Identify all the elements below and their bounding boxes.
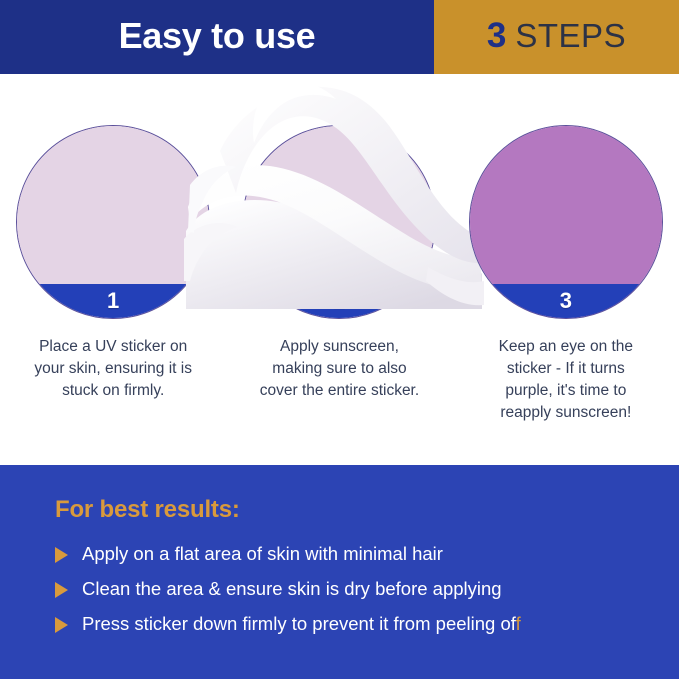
list-item: Apply on a flat area of skin with minima… (55, 537, 655, 572)
step-image-2: 2 (242, 125, 436, 319)
triangle-bullet-icon (55, 617, 68, 633)
best-results-item-3: Press sticker down firmly to prevent it … (82, 615, 521, 634)
step-card-2: 2 (226, 74, 452, 465)
step-caption-1: Place a UV sticker on your skin, ensurin… (0, 336, 226, 402)
step-caption-2: Apply sunscreen, making sure to also cov… (226, 336, 452, 402)
step-number-3: 3 (560, 290, 572, 312)
triangle-bullet-icon (55, 547, 68, 563)
step-number-2: 2 (333, 290, 345, 312)
step-image-1: 1 (16, 125, 210, 319)
best-results-title: For best results: (55, 498, 240, 522)
sticker-circle-3: 3 (469, 125, 663, 319)
steps-count: 3 (487, 18, 506, 56)
step-card-3: 3 Keep an eye on the sticker - If it tur… (453, 74, 679, 465)
step-caption-3: Keep an eye on the sticker - If it turns… (453, 336, 679, 424)
step-number-band-3: 3 (470, 284, 662, 318)
steps-label: STEPS (515, 19, 626, 55)
sticker-circle-2: 2 (242, 125, 436, 319)
header-steps-panel: 3 STEPS (434, 0, 679, 74)
best-results-item-2: Clean the area & ensure skin is dry befo… (82, 580, 502, 599)
step-card-1: 1 Place a UV sticker on your skin, ensur… (0, 74, 226, 465)
page-title: Easy to use (119, 18, 316, 57)
step-number-1: 1 (107, 290, 119, 312)
header-title-panel: Easy to use (0, 0, 434, 74)
best-results-list: Apply on a flat area of skin with minima… (55, 537, 655, 642)
infographic-page: Easy to use 3 STEPS 1 Place a UV sticker… (0, 0, 679, 679)
sticker-circle-1: 1 (16, 125, 210, 319)
list-item: Clean the area & ensure skin is dry befo… (55, 572, 655, 607)
best-results-item-1: Apply on a flat area of skin with minima… (82, 545, 443, 564)
header-banner: Easy to use 3 STEPS (0, 0, 679, 74)
step-image-3: 3 (469, 125, 663, 319)
triangle-bullet-icon (55, 582, 68, 598)
step-number-band-1: 1 (17, 284, 209, 318)
list-item: Press sticker down firmly to prevent it … (55, 607, 655, 642)
step-number-band-2: 2 (243, 284, 435, 318)
steps-row: 1 Place a UV sticker on your skin, ensur… (0, 74, 679, 465)
